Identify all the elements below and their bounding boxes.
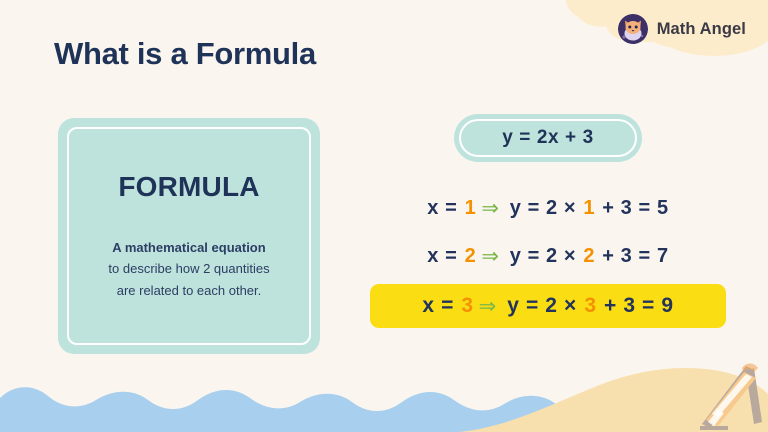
equation-rhs-prefix: y = 2 × <box>504 245 583 268</box>
equation-rows: x = 1⇒ y = 2 × 1 + 3 = 5x = 2⇒ y = 2 × 2… <box>370 188 726 328</box>
examples-column: y = 2x + 3 x = 1⇒ y = 2 × 1 + 3 = 5x = 2… <box>370 114 726 328</box>
brand-logo: Math Angel <box>618 14 746 44</box>
equation-result: 5 <box>657 197 669 220</box>
equation-rhs-suffix: + 3 = <box>596 197 657 220</box>
equation-lhs-label: x = <box>422 294 460 318</box>
equation-x-value-substituted: 2 <box>582 245 596 268</box>
equation-x-value: 3 <box>460 294 474 318</box>
equation-rhs-suffix: + 3 = <box>596 245 657 268</box>
definition-line-2: to describe how 2 quantities <box>108 258 269 279</box>
implies-arrow-icon: ⇒ <box>477 244 503 269</box>
page-title: What is a Formula <box>54 36 316 72</box>
formula-pill: y = 2x + 3 <box>454 114 642 162</box>
equation-row: x = 3⇒ y = 2 × 3 + 3 = 9 <box>370 284 726 328</box>
slide-canvas: Math Angel What is a Formula FORMULA A m… <box>0 0 768 432</box>
definition-heading: FORMULA <box>118 171 259 203</box>
definition-card: FORMULA A mathematical equation to descr… <box>58 118 320 354</box>
definition-line-1: A mathematical equation <box>112 237 265 258</box>
sand-dune-shape <box>458 362 768 432</box>
equation-x-value-substituted: 3 <box>583 294 597 318</box>
cat-face-circle-logo-icon <box>618 14 648 44</box>
definition-card-inner: FORMULA A mathematical equation to descr… <box>67 127 311 345</box>
equation-lhs-label: x = <box>427 197 463 220</box>
formula-pill-inner: y = 2x + 3 <box>459 119 637 157</box>
equation-x-value: 1 <box>464 197 478 220</box>
equation-rhs-prefix: y = 2 × <box>501 294 583 318</box>
equation-x-value: 2 <box>464 245 478 268</box>
deck-chair-icon <box>684 348 766 432</box>
equation-x-value-substituted: 1 <box>582 197 596 220</box>
equation-rhs-suffix: + 3 = <box>598 294 662 318</box>
equation-result: 9 <box>661 294 673 318</box>
wave-shape <box>0 376 768 432</box>
implies-arrow-icon: ⇒ <box>475 294 501 319</box>
equation-rhs-prefix: y = 2 × <box>504 197 583 220</box>
implies-arrow-icon: ⇒ <box>477 196 503 221</box>
definition-line-3: are related to each other. <box>117 280 262 301</box>
equation-row: x = 1⇒ y = 2 × 1 + 3 = 5 <box>370 188 726 228</box>
equation-result: 7 <box>657 245 669 268</box>
equation-row: x = 2⇒ y = 2 × 2 + 3 = 7 <box>370 236 726 276</box>
formula-expression: y = 2x + 3 <box>502 127 594 149</box>
equation-lhs-label: x = <box>427 245 463 268</box>
brand-name: Math Angel <box>657 20 746 39</box>
